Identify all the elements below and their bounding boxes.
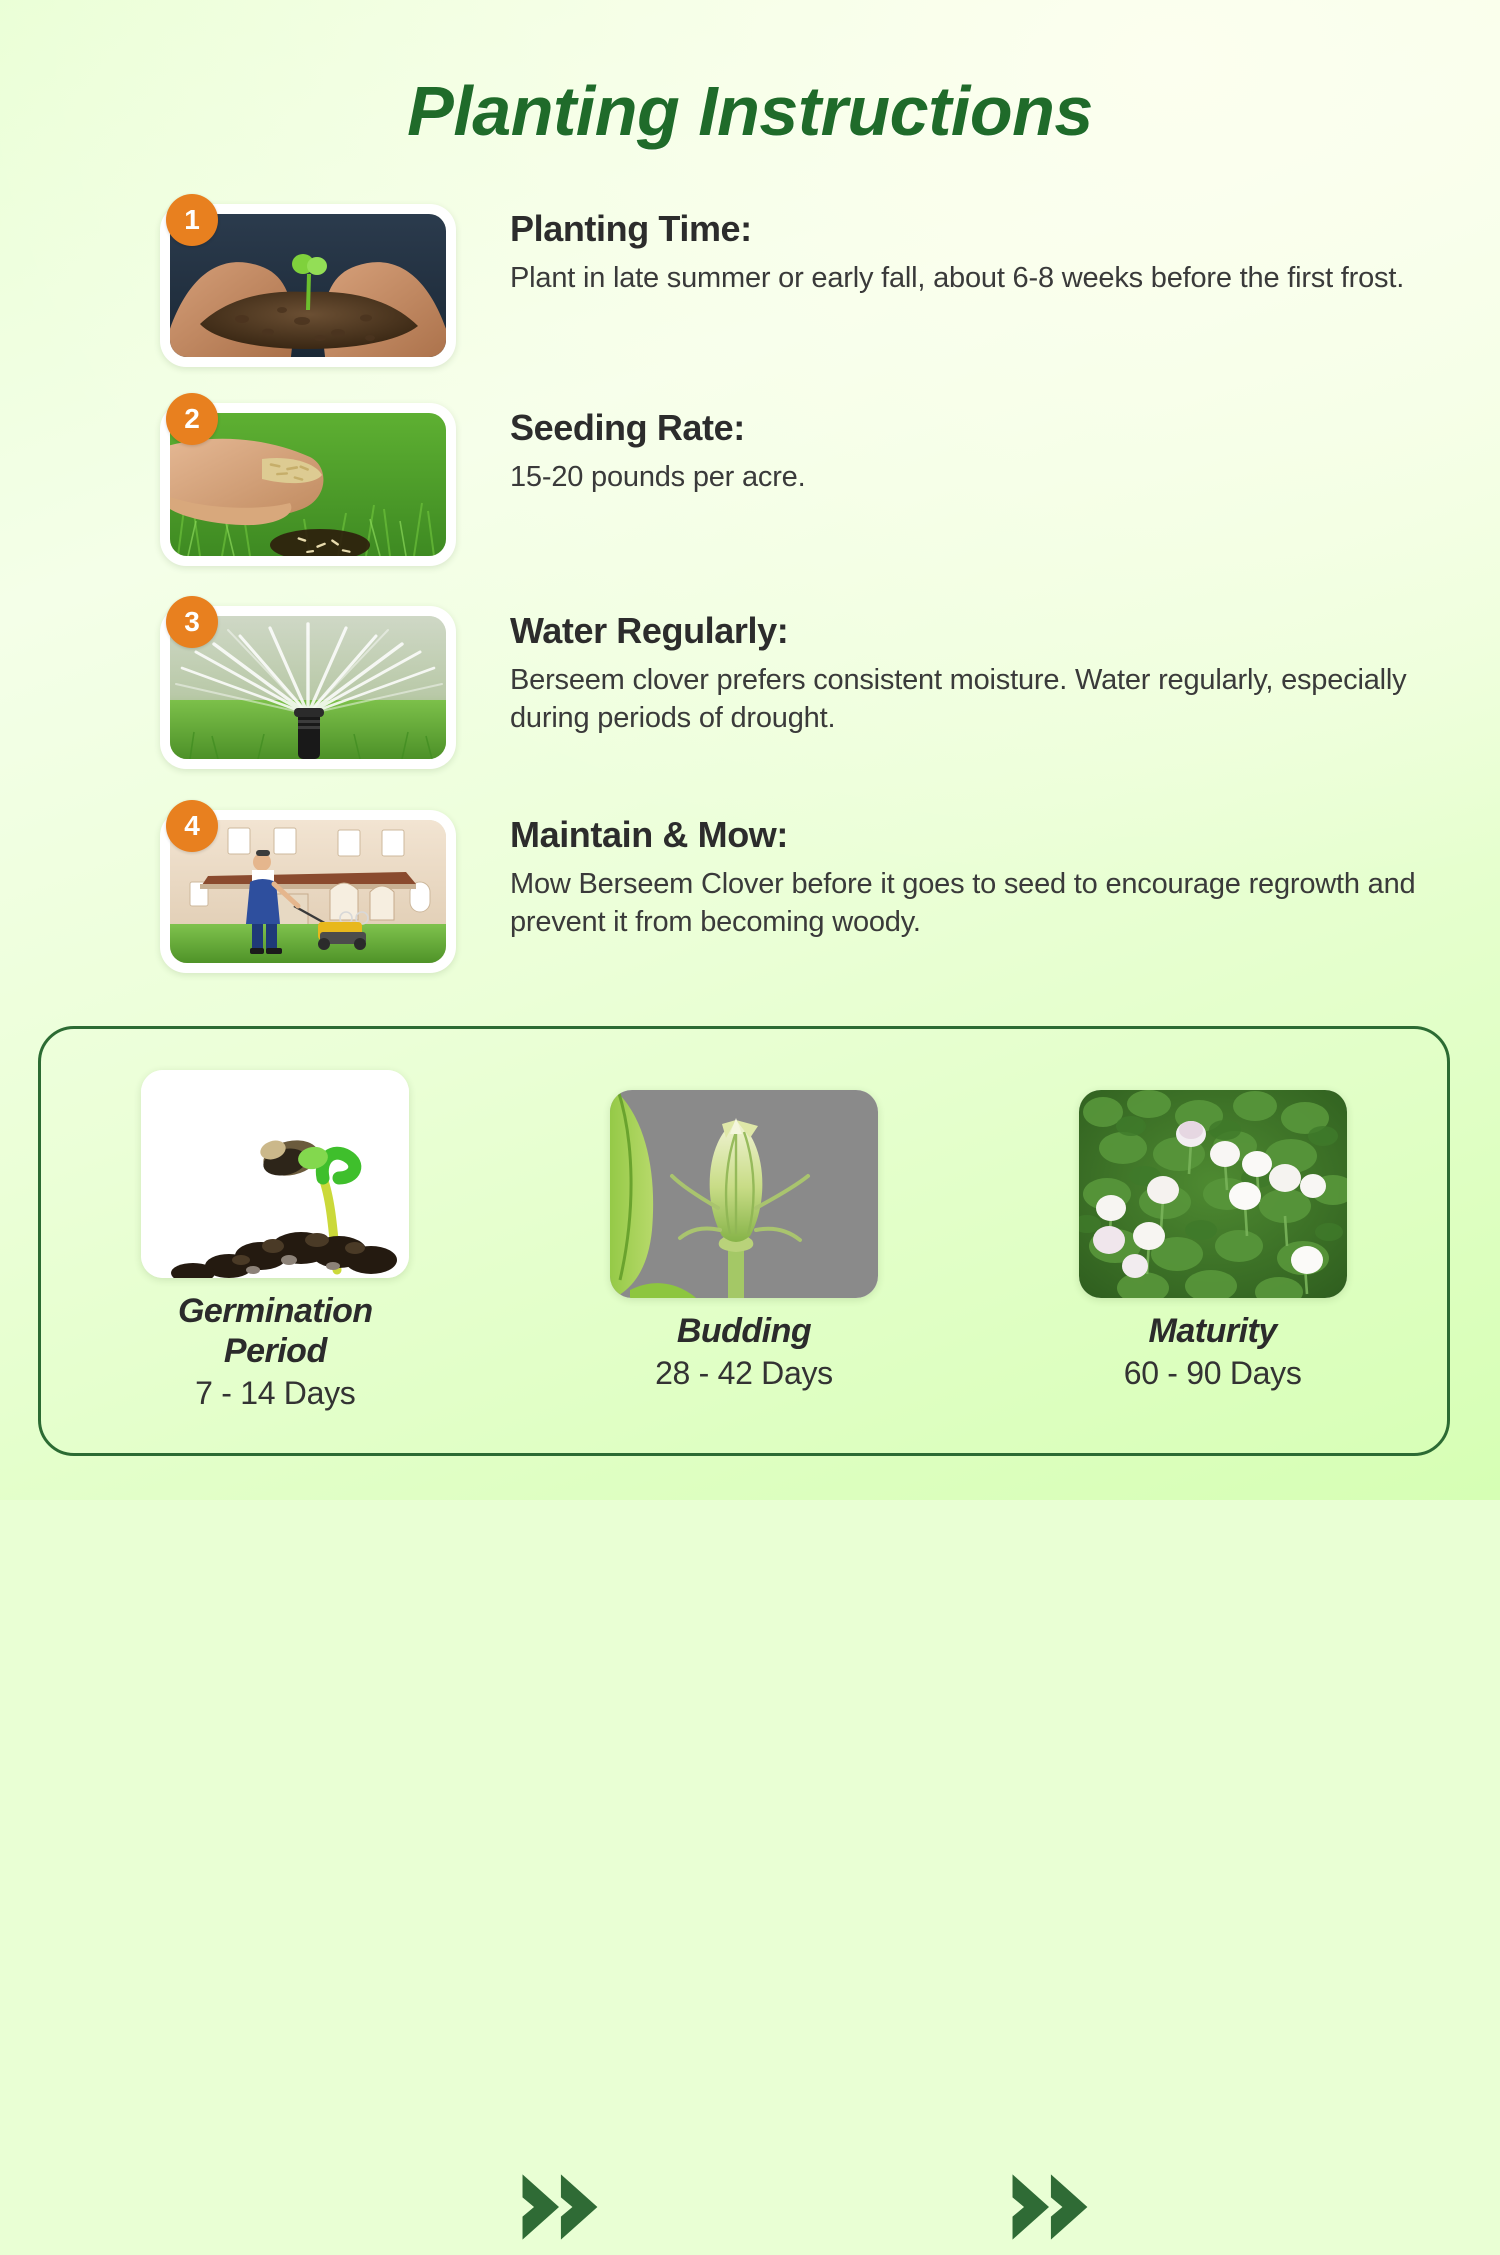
budding-illustration xyxy=(610,1090,878,1298)
budding-image-card xyxy=(610,1090,878,1298)
step-3-text: Water Regularly: Berseem clover prefers … xyxy=(510,610,1450,738)
step-heading: Seeding Rate: xyxy=(510,407,1450,449)
step-1-text: Planting Time: Plant in late summer or e… xyxy=(510,208,1450,297)
step-item: 3 Water Regularly: Berseem clover prefer… xyxy=(160,598,1450,794)
step-item: 4 Maintain & Mow: Mow Berseem Clover bef… xyxy=(160,802,1450,998)
step-body: Mow Berseem Clover before it goes to see… xyxy=(510,865,1450,942)
step-number-badge: 1 xyxy=(166,194,218,246)
stage-label: Germination Period xyxy=(125,1292,425,1370)
step-item: 2 Seeding Rate: 15-20 pounds per acre. xyxy=(160,395,1450,591)
clover-field-image xyxy=(1079,1090,1347,1298)
step-number-badge: 2 xyxy=(166,393,218,445)
stage-label: Budding xyxy=(594,1312,894,1351)
step-heading: Planting Time: xyxy=(510,208,1450,250)
stage-days: 7 - 14 Days xyxy=(125,1375,425,1412)
stage-days: 60 - 90 Days xyxy=(1063,1355,1363,1392)
double-chevron-right-icon xyxy=(1001,2159,1097,2255)
step-body: Plant in late summer or early fall, abou… xyxy=(510,259,1450,297)
step-number-badge: 3 xyxy=(166,596,218,648)
step-body: 15-20 pounds per acre. xyxy=(510,458,1450,496)
lifecycle-stages: Germination Period 7 - 14 Days xyxy=(41,1029,1447,1453)
step-heading: Water Regularly: xyxy=(510,610,1450,652)
flower-bud-image xyxy=(610,1090,878,1298)
step-heading: Maintain & Mow: xyxy=(510,814,1450,856)
step-item: 1 Planting Time: Plant in late summer or… xyxy=(160,196,1450,392)
lifecycle-panel: Germination Period 7 - 14 Days xyxy=(38,1026,1450,1456)
germination-illustration xyxy=(141,1070,409,1278)
double-chevron-right-icon xyxy=(511,2159,607,2255)
lifecycle-stage: Budding 28 - 42 Days xyxy=(594,1090,894,1392)
planting-instructions-infographic: Planting Instructions xyxy=(0,0,1500,1500)
maturity-illustration xyxy=(1079,1090,1347,1298)
step-body: Berseem clover prefers consistent moistu… xyxy=(510,661,1450,738)
stage-label: Maturity xyxy=(1063,1312,1363,1351)
germination-image-card xyxy=(141,1070,409,1278)
lifecycle-stage: Maturity 60 - 90 Days xyxy=(1063,1090,1363,1392)
step-4-text: Maintain & Mow: Mow Berseem Clover befor… xyxy=(510,814,1450,942)
page-title: Planting Instructions xyxy=(0,76,1500,146)
stage-days: 28 - 42 Days xyxy=(594,1355,894,1392)
lifecycle-stage: Germination Period 7 - 14 Days xyxy=(125,1070,425,1411)
step-number-badge: 4 xyxy=(166,800,218,852)
maturity-image-card xyxy=(1079,1090,1347,1298)
step-2-text: Seeding Rate: 15-20 pounds per acre. xyxy=(510,407,1450,496)
sprouting-seed-image xyxy=(141,1070,409,1278)
